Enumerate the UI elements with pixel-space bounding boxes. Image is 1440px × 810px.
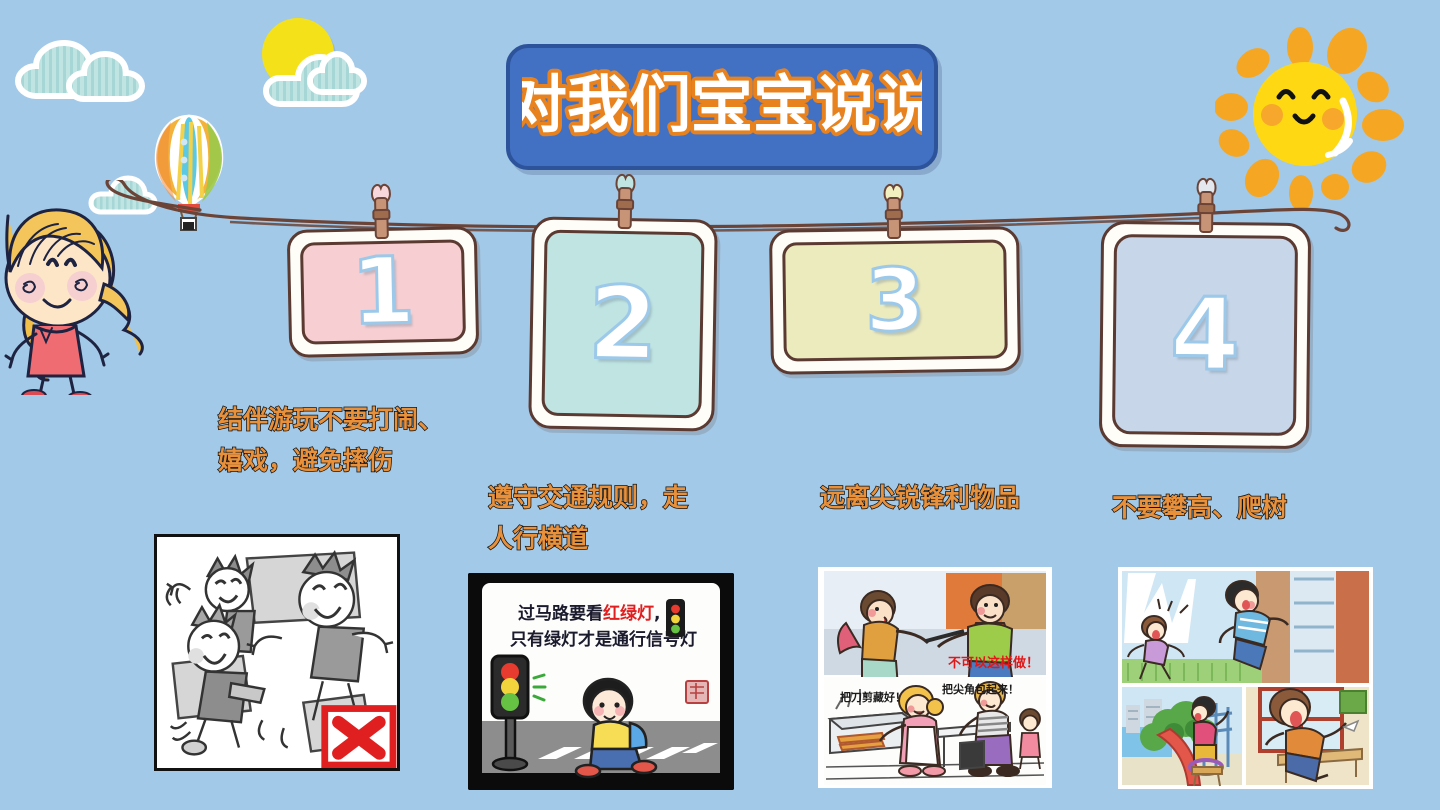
caption-2: 遵守交通规则，走 人行横道 xyxy=(488,478,738,559)
number-card-2[interactable]: 2 xyxy=(528,216,718,431)
card-inner: 3 xyxy=(782,239,1008,361)
caption-1: 结伴游玩不要打闹、 嬉戏，避免摔伤 xyxy=(218,400,488,481)
children-roughhousing-photo[interactable] xyxy=(154,534,400,771)
svg-text:对我们宝宝说说: 对我们宝宝说说 xyxy=(522,68,922,141)
slide-canvas: 对我们宝宝说说 1 2 xyxy=(0,0,1440,810)
climbing-danger-photo[interactable] xyxy=(1118,567,1373,789)
title-text-svg: 对我们宝宝说说 xyxy=(522,62,922,152)
traffic-light-crosswalk-photo[interactable]: 过马路要看 红绿灯 , 只有绿灯才是通行信号灯 xyxy=(468,573,734,790)
photo3-top-caption: 不可以这样做！ xyxy=(948,655,1039,671)
card-inner: 2 xyxy=(541,230,704,419)
card-number: 3 xyxy=(864,257,925,344)
clothespin-icon xyxy=(880,182,907,240)
cloud-icon xyxy=(14,18,154,110)
caption-3: 远离尖锐锋利物品 xyxy=(820,478,1080,519)
svg-text:红绿灯: 红绿灯 xyxy=(603,603,654,624)
cartoon-girl-icon xyxy=(0,180,175,395)
number-card-1[interactable]: 1 xyxy=(287,226,480,358)
sharp-objects-photo[interactable]: 不可以这样做！ xyxy=(818,567,1052,788)
photo3-bottom-left-caption: 把刀剪藏好！ xyxy=(840,690,906,704)
number-card-3[interactable]: 3 xyxy=(769,226,1021,374)
clothespin-icon xyxy=(612,172,639,230)
photo3-bottom-right-caption: 把尖角包起来！ xyxy=(942,682,1019,696)
card-inner: 4 xyxy=(1112,234,1298,436)
cloud-icon xyxy=(262,40,372,112)
card-number: 4 xyxy=(1170,285,1241,386)
caption-4: 不要攀高、爬树 xyxy=(1112,488,1362,529)
slide-title-banner: 对我们宝宝说说 xyxy=(506,44,938,170)
sun-icon xyxy=(1215,15,1430,225)
clothespin-icon xyxy=(368,182,395,241)
photo2-line1: 过马路要看 xyxy=(518,603,603,624)
card-inner: 1 xyxy=(300,239,466,344)
number-card-4[interactable]: 4 xyxy=(1099,221,1311,449)
clothespin-icon xyxy=(1193,176,1220,234)
svg-text:,: , xyxy=(654,604,660,624)
card-number: 2 xyxy=(587,273,658,374)
card-number: 1 xyxy=(350,245,416,338)
